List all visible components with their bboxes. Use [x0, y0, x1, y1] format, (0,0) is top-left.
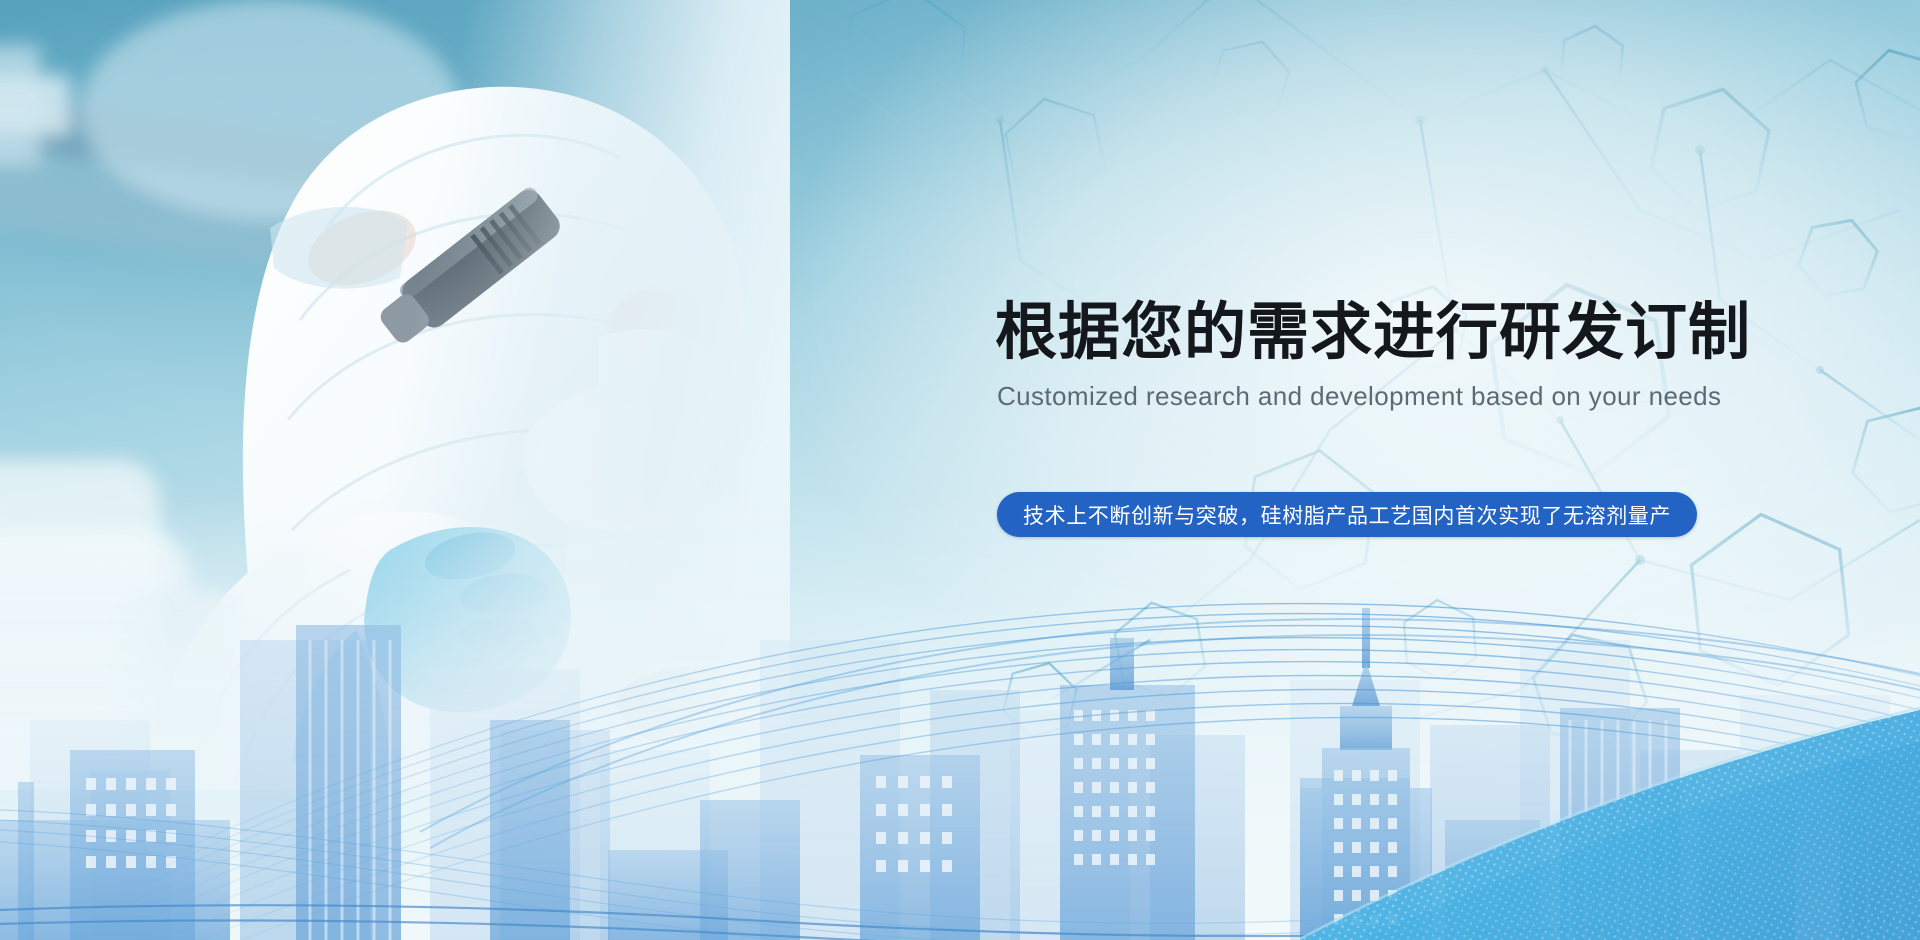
status-badge-label: 技术上不断创新与突破，硅树脂产品工艺国内首次实现了无溶剂量产 — [1023, 500, 1671, 530]
hero-copy-block: 根据您的需求进行研发订制 Customized research and dev… — [995, 300, 1755, 412]
wave-ribbon-graphic — [0, 480, 1920, 940]
hero-banner: 根据您的需求进行研发订制 Customized research and dev… — [0, 0, 1920, 940]
status-badge: 技术上不断创新与突破，硅树脂产品工艺国内首次实现了无溶剂量产 — [997, 492, 1697, 537]
page-subtitle: Customized research and development base… — [997, 381, 1755, 412]
page-title: 根据您的需求进行研发订制 — [995, 300, 1755, 367]
